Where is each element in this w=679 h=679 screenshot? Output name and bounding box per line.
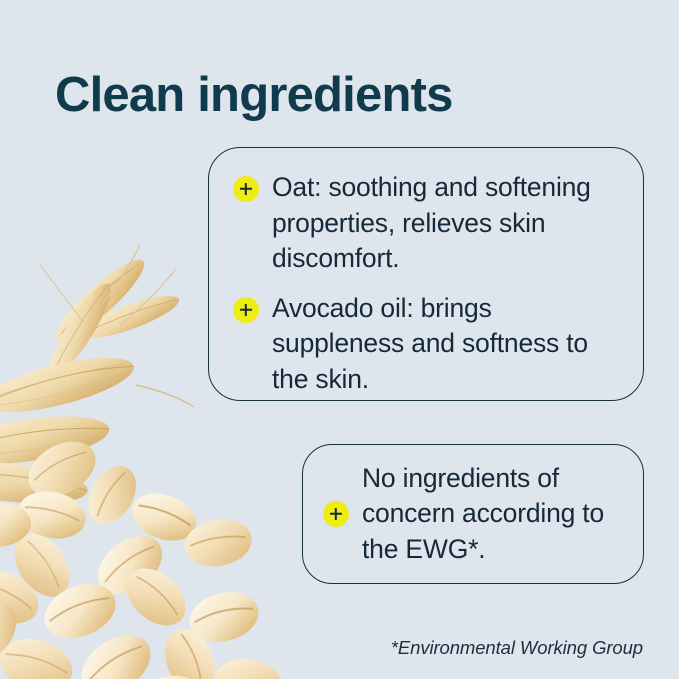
ewg-card: No ingredients of concern according to t… — [302, 444, 644, 584]
ewg-bullet-list: No ingredients of concern according to t… — [303, 445, 643, 583]
list-item: Avocado oil: brings suppleness and softn… — [233, 291, 629, 398]
marketing-infographic: Clean ingredients Oat: soothing and soft… — [0, 0, 679, 679]
ingredients-bullet-list: Oat: soothing and softening properties, … — [233, 170, 629, 397]
footnote: *Environmental Working Group — [391, 637, 643, 659]
page-title: Clean ingredients — [55, 66, 453, 124]
list-item-label: Oat: soothing and softening properties, … — [272, 170, 629, 277]
list-item-label: Avocado oil: brings suppleness and softn… — [272, 291, 629, 398]
list-item: Oat: soothing and softening properties, … — [233, 170, 629, 277]
ingredients-card: Oat: soothing and softening properties, … — [208, 147, 644, 401]
plus-icon — [323, 501, 349, 527]
plus-icon — [233, 297, 259, 323]
list-item-label: No ingredients of concern according to t… — [362, 461, 643, 568]
plus-icon — [233, 176, 259, 202]
